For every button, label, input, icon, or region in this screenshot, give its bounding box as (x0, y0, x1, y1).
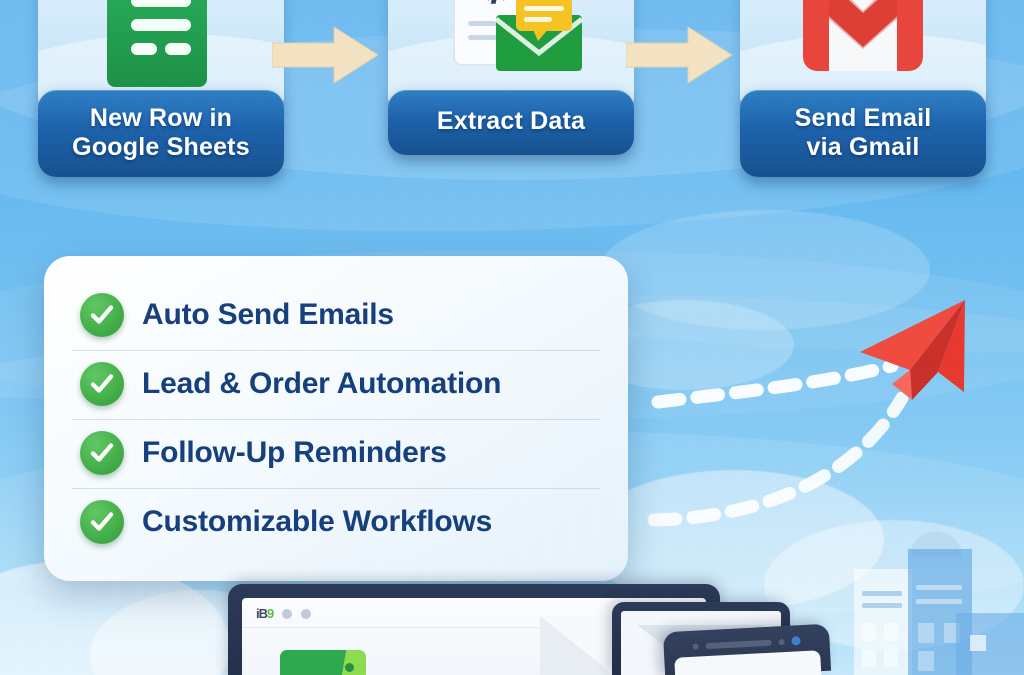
checklist-item[interactable]: Customizable Workflows (72, 488, 600, 557)
flow-step-icon-pane (38, 0, 284, 104)
flow-step-label: New Row in Google Sheets (38, 90, 284, 177)
city-buildings-decoration (824, 540, 1024, 675)
checklist-item-label: Auto Send Emails (142, 298, 394, 332)
flow-step-icon-pane: </> (388, 0, 634, 104)
check-circle-icon (80, 431, 124, 475)
checklist-item[interactable]: Lead & Order Automation (72, 350, 600, 419)
screen-green-tag-icon (280, 650, 366, 675)
google-sheets-icon (105, 0, 217, 92)
flow-step-label-line1: New Row in (90, 104, 232, 132)
flow-step-google-sheets[interactable]: New Row in Google Sheets (38, 0, 284, 177)
flow-step-icon-pane (740, 0, 986, 104)
building-right (956, 613, 1024, 675)
flow-step-label-line2: via Gmail (807, 133, 920, 161)
dashed-trail-lower (654, 398, 902, 520)
checklist-item-label: Customizable Workflows (142, 505, 492, 539)
browser-dot[interactable] (282, 609, 292, 619)
dashed-trail-upper (658, 366, 892, 402)
flow-arrow-2-icon (626, 26, 734, 84)
building-left (854, 569, 912, 675)
features-checklist-card: Auto Send Emails Lead & Order Automation… (44, 256, 628, 581)
gmail-icon (797, 0, 929, 92)
flow-step-label-line1: Extract Data (437, 107, 585, 135)
paper-plane-decoration (620, 280, 1024, 570)
browser-brand-logo: iB9 (256, 606, 273, 621)
browser-dot[interactable] (301, 609, 311, 619)
flow-arrow-1-icon (272, 26, 380, 84)
phone-sensor-dot (692, 643, 698, 649)
infographic-canvas: New Row in Google Sheets </> (0, 0, 1024, 675)
phone-device (663, 624, 831, 675)
flow-step-label-line1: Send Email (795, 104, 932, 132)
flow-step-send-email[interactable]: Send Email via Gmail (740, 0, 986, 177)
phone-screen (674, 650, 822, 675)
checklist-item-label: Lead & Order Automation (142, 367, 501, 401)
flow-step-label: Extract Data (388, 90, 634, 155)
phone-sensor-dot (778, 639, 784, 645)
phone-speaker (705, 639, 771, 648)
phone-camera (791, 636, 800, 645)
code-document-envelope-icon: </> (436, 0, 586, 92)
check-circle-icon (80, 500, 124, 544)
check-circle-icon (80, 362, 124, 406)
checklist-item-label: Follow-Up Reminders (142, 436, 447, 470)
flow-step-extract-data[interactable]: </> Extract Data (388, 0, 634, 155)
flow-step-label-line2: Google Sheets (72, 133, 250, 161)
phone-earpiece-row (673, 635, 819, 652)
flow-step-label: Send Email via Gmail (740, 90, 986, 177)
check-circle-icon (80, 293, 124, 337)
automation-flow-row: New Row in Google Sheets </> (0, 0, 1024, 204)
paper-plane-icon (860, 300, 965, 400)
checklist-item[interactable]: Auto Send Emails (72, 282, 600, 350)
checklist-item[interactable]: Follow-Up Reminders (72, 419, 600, 488)
